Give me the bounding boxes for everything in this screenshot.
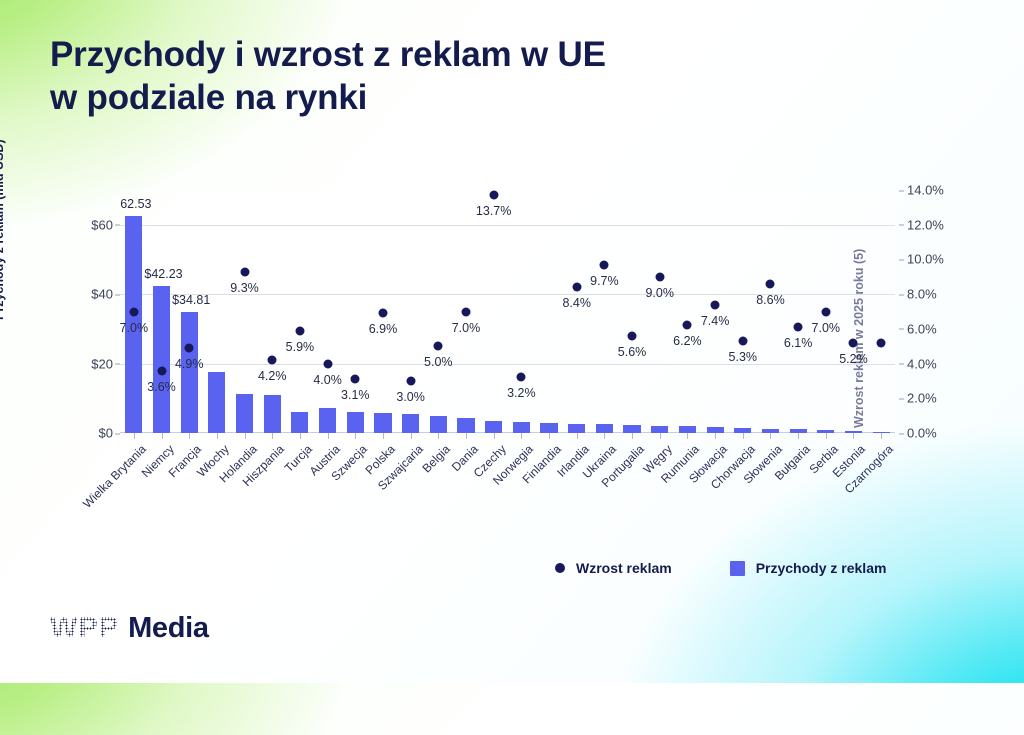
logo-wpp-text: WPP — [50, 612, 119, 645]
bar — [485, 421, 502, 433]
x-axis-tick — [687, 433, 688, 439]
y-axis-right-tick: 8.0% — [907, 287, 937, 302]
chart-container: Przychody z reklam (mld USD) Wzrost rekl… — [0, 170, 1024, 450]
bar — [291, 412, 308, 433]
growth-dot — [157, 366, 166, 375]
bar — [540, 423, 557, 433]
bar-value-label: $42.23 — [144, 267, 182, 281]
tick-mark — [899, 364, 904, 365]
growth-value-label: 9.3% — [230, 281, 259, 295]
growth-value-label: 5.9% — [286, 340, 315, 354]
growth-value-label: 9.7% — [590, 274, 619, 288]
bar — [208, 372, 225, 433]
growth-dot — [628, 331, 637, 340]
y-axis-left-tick: $60 — [91, 217, 113, 232]
gridline — [120, 364, 895, 365]
growth-value-label: 3.6% — [147, 380, 176, 394]
wpp-media-logo: WPP Media — [50, 612, 209, 645]
bar — [402, 414, 419, 433]
bar — [568, 424, 585, 433]
x-axis-tick — [853, 433, 854, 439]
growth-dot — [461, 307, 470, 316]
bar — [623, 425, 640, 433]
x-axis-tick — [521, 433, 522, 439]
growth-value-label: 5.6% — [618, 345, 647, 359]
growth-dot — [351, 375, 360, 384]
bar — [347, 412, 364, 433]
x-axis-tick — [549, 433, 550, 439]
y-axis-left-tick: $20 — [91, 356, 113, 371]
growth-value-label: 3.1% — [341, 388, 370, 402]
growth-dot — [821, 307, 830, 316]
growth-dot — [185, 343, 194, 352]
tick-mark — [899, 190, 904, 191]
tick-mark — [115, 364, 120, 365]
growth-value-label: 3.2% — [507, 386, 536, 400]
growth-dot — [295, 326, 304, 335]
x-axis-tick — [272, 433, 273, 439]
growth-dot — [849, 338, 858, 347]
bar — [679, 426, 696, 433]
growth-value-label: 13.7% — [476, 204, 511, 218]
x-axis-tick — [632, 433, 633, 439]
x-axis-tick — [134, 433, 135, 439]
x-axis-tick — [604, 433, 605, 439]
x-axis-tick — [355, 433, 356, 439]
tick-mark — [899, 294, 904, 295]
growth-dot — [655, 272, 664, 281]
y-axis-left-title: Przychody z reklam (mld USD) — [0, 139, 6, 320]
bar — [374, 413, 391, 433]
growth-value-label: 4.0% — [313, 373, 342, 387]
growth-dot — [738, 337, 747, 346]
legend-square-icon — [730, 561, 745, 576]
y-axis-right-tick: 0.0% — [907, 426, 937, 441]
tick-mark — [899, 259, 904, 260]
growth-value-label: 9.0% — [645, 286, 674, 300]
y-axis-left-tick: $0 — [99, 426, 113, 441]
growth-value-label: 4.2% — [258, 369, 287, 383]
growth-value-label: 8.6% — [756, 293, 785, 307]
tick-mark — [899, 225, 904, 226]
growth-value-label: 6.9% — [369, 322, 398, 336]
x-axis-tick — [217, 433, 218, 439]
tick-mark — [115, 294, 120, 295]
chart-legend: Wzrost reklamPrzychody z reklam — [0, 560, 1024, 588]
x-axis-tick — [189, 433, 190, 439]
logo-media-text: Media — [128, 612, 209, 645]
growth-dot — [683, 321, 692, 330]
legend-item[interactable]: Przychody z reklam — [730, 560, 887, 576]
growth-dot — [129, 307, 138, 316]
growth-value-label: 7.4% — [701, 314, 730, 328]
x-axis-tick — [770, 433, 771, 439]
bar-value-label: $34.81 — [172, 293, 210, 307]
growth-dot — [877, 338, 886, 347]
tick-mark — [899, 329, 904, 330]
growth-dot — [600, 260, 609, 269]
y-axis-right-tick: 10.0% — [907, 252, 944, 267]
growth-dot — [766, 279, 775, 288]
legend-item[interactable]: Wzrost reklam — [555, 560, 672, 576]
growth-value-label: 4.9% — [175, 357, 204, 371]
tick-mark — [115, 433, 120, 434]
legend-dot-icon — [555, 563, 565, 573]
x-axis-tick — [300, 433, 301, 439]
growth-dot — [323, 359, 332, 368]
slide-canvas: Przychody i wzrost z reklam w UE w podzi… — [0, 0, 1024, 683]
bar — [596, 424, 613, 433]
y-axis-right-tick: 6.0% — [907, 321, 937, 336]
growth-dot — [378, 309, 387, 318]
growth-value-label: 5.0% — [424, 355, 453, 369]
growth-dot — [572, 283, 581, 292]
growth-value-label: 6.2% — [673, 334, 702, 348]
legend-label: Wzrost reklam — [576, 560, 672, 576]
y-axis-right-tick: 14.0% — [907, 183, 944, 198]
title-line-2: w podziale na rynki — [50, 77, 930, 120]
growth-dot — [517, 373, 526, 382]
bar — [264, 395, 281, 433]
bar — [513, 422, 530, 433]
y-axis-right-tick: 12.0% — [907, 217, 944, 232]
x-axis-tick — [715, 433, 716, 439]
growth-dot — [406, 376, 415, 385]
x-axis-tick — [494, 433, 495, 439]
legend-label: Przychody z reklam — [756, 560, 887, 576]
tick-mark — [899, 398, 904, 399]
x-axis-tick — [826, 433, 827, 439]
growth-dot — [240, 267, 249, 276]
x-axis-tick — [660, 433, 661, 439]
title-line-1: Przychody i wzrost z reklam w UE — [50, 34, 930, 77]
x-axis-tick — [438, 433, 439, 439]
bar — [457, 418, 474, 433]
x-axis-tick — [328, 433, 329, 439]
growth-dot — [711, 300, 720, 309]
bar — [181, 312, 198, 433]
y-axis-right-tick: 2.0% — [907, 391, 937, 406]
bar — [319, 408, 336, 433]
growth-value-label: 8.4% — [562, 296, 591, 310]
bar — [430, 416, 447, 433]
x-axis-tick — [577, 433, 578, 439]
page-title: Przychody i wzrost z reklam w UE w podzi… — [50, 34, 930, 119]
bar — [236, 394, 253, 433]
gridline — [120, 225, 895, 226]
growth-value-label: 7.0% — [120, 321, 149, 335]
growth-dot — [268, 356, 277, 365]
x-axis-tick — [798, 433, 799, 439]
tick-mark — [115, 225, 120, 226]
plot-area: $0$20$40$600.0%2.0%4.0%6.0%8.0%10.0%12.0… — [120, 190, 895, 433]
growth-value-label: 7.0% — [812, 321, 841, 335]
tick-mark — [899, 433, 904, 434]
x-axis-tick — [383, 433, 384, 439]
x-axis-tick — [881, 433, 882, 439]
growth-dot — [434, 342, 443, 351]
growth-value-label: 5.2% — [839, 352, 868, 366]
x-axis-tick — [162, 433, 163, 439]
x-axis-tick — [411, 433, 412, 439]
y-axis-right-tick: 4.0% — [907, 356, 937, 371]
growth-value-label: 5.3% — [729, 350, 758, 364]
x-axis-tick — [245, 433, 246, 439]
bar-value-label: 62.53 — [120, 197, 151, 211]
y-axis-left-tick: $40 — [91, 287, 113, 302]
bar — [651, 426, 668, 433]
growth-value-label: 3.0% — [396, 390, 425, 404]
growth-dot — [489, 191, 498, 200]
x-axis-tick — [466, 433, 467, 439]
bar — [153, 286, 170, 433]
growth-value-label: 6.1% — [784, 336, 813, 350]
growth-dot — [794, 323, 803, 332]
growth-value-label: 7.0% — [452, 321, 481, 335]
x-axis-tick — [743, 433, 744, 439]
